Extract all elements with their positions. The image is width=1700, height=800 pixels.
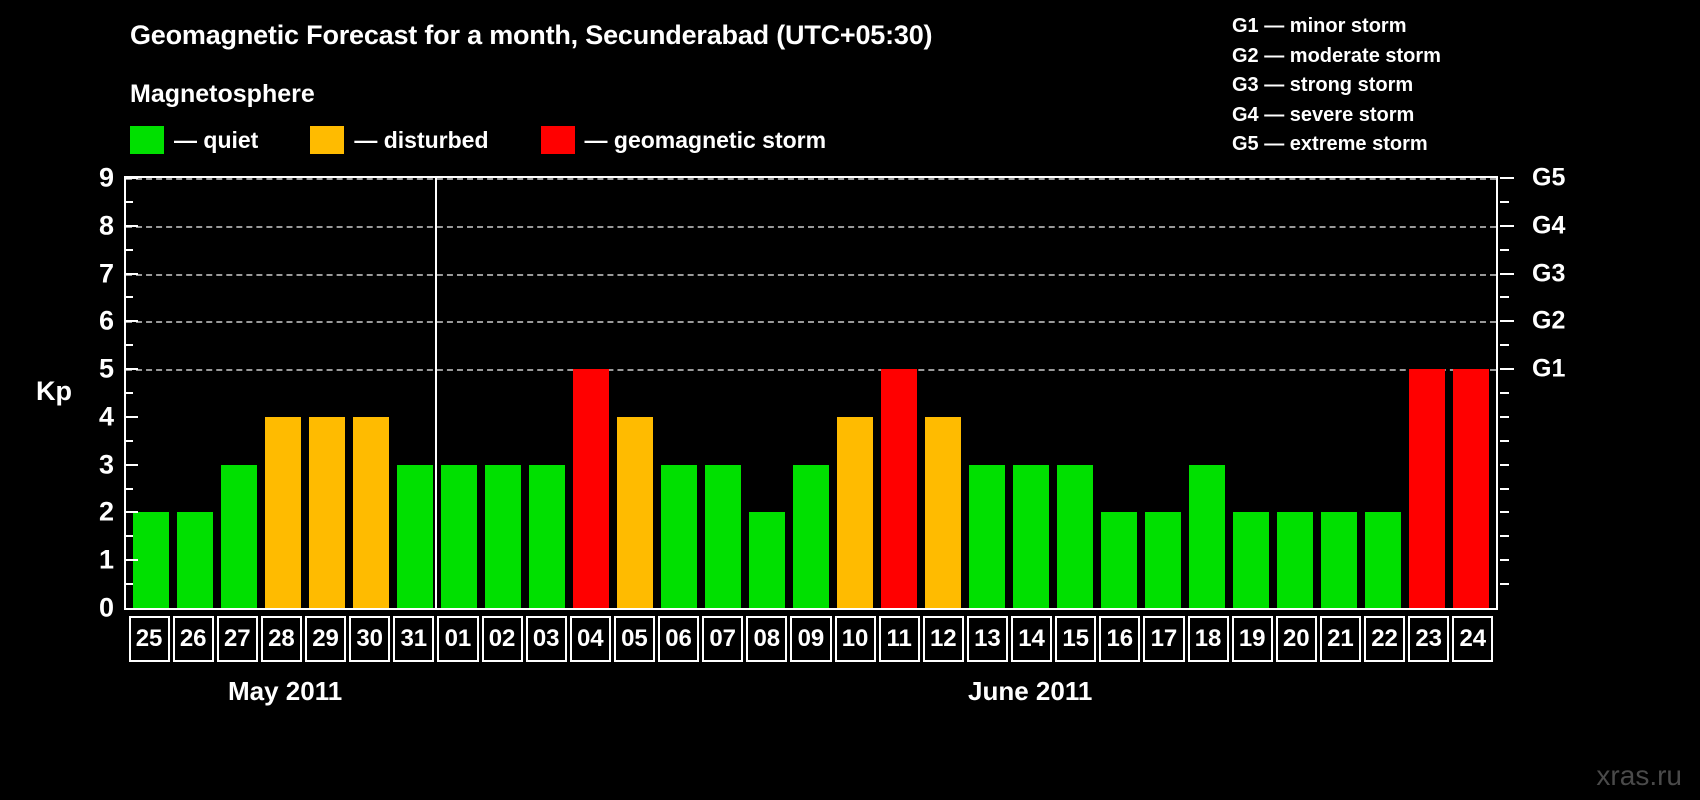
bar-slot	[1317, 178, 1361, 608]
y-tick-mark-minor	[126, 201, 133, 203]
bar-day-23[interactable]	[1409, 369, 1446, 608]
y-tick-mark-8	[126, 225, 138, 227]
date-label-27[interactable]: 27	[217, 616, 258, 662]
bar-day-12[interactable]	[925, 417, 962, 608]
bar-day-17[interactable]	[1145, 512, 1182, 608]
bar-slot	[217, 178, 261, 608]
bar-slot	[1405, 178, 1449, 608]
legend-swatch-quiet-icon	[130, 126, 164, 154]
storm-scale-row-g2: G2 — moderate storm	[1232, 42, 1441, 72]
y-tick-label-8: 8	[99, 210, 114, 241]
y-tick-label-7: 7	[99, 258, 114, 289]
magnetosphere-label: Magnetosphere	[130, 80, 315, 109]
bar-day-24[interactable]	[1453, 369, 1490, 608]
legend-label-disturbed: — disturbed	[354, 127, 488, 154]
bar-slot	[745, 178, 789, 608]
bar-slot	[393, 178, 437, 608]
y-tick-mark-2	[126, 511, 138, 513]
date-label-29[interactable]: 29	[305, 616, 346, 662]
bar-slot	[789, 178, 833, 608]
bar-slot	[1361, 178, 1405, 608]
bar-day-14[interactable]	[1013, 465, 1050, 608]
date-label-10[interactable]: 10	[835, 616, 876, 662]
bar-day-30[interactable]	[353, 417, 390, 608]
y-tick-mark-minor	[126, 249, 133, 251]
month-label-may: May 2011	[228, 676, 342, 707]
legend-label-storm: — geomagnetic storm	[585, 127, 827, 154]
g-tick-mark-minor	[1500, 583, 1509, 585]
bar-day-29[interactable]	[309, 417, 346, 608]
bar-slot	[921, 178, 965, 608]
storm-scale-row-g4: G4 — severe storm	[1232, 101, 1441, 131]
bar-slot	[877, 178, 921, 608]
y-tick-label-0: 0	[99, 593, 114, 624]
y-tick-label-4: 4	[99, 401, 114, 432]
g-tick-mark-minor	[1500, 440, 1509, 442]
date-label-24[interactable]: 24	[1452, 616, 1493, 662]
y-tick-mark-7	[126, 273, 138, 275]
legend-swatch-storm-icon	[541, 126, 575, 154]
y-tick-mark-4	[126, 416, 138, 418]
date-label-21[interactable]: 21	[1320, 616, 1361, 662]
legend-swatch-disturbed-icon	[310, 126, 344, 154]
bar-day-26[interactable]	[177, 512, 214, 608]
bar-series	[126, 178, 1496, 608]
bar-day-19[interactable]	[1233, 512, 1270, 608]
y-tick-mark-minor	[126, 535, 133, 537]
legend-entry-storm: — geomagnetic storm	[541, 126, 827, 154]
bar-day-08[interactable]	[749, 512, 786, 608]
date-label-19[interactable]: 19	[1232, 616, 1273, 662]
bar-slot	[613, 178, 657, 608]
y-tick-mark-minor	[126, 392, 133, 394]
date-label-22[interactable]: 22	[1364, 616, 1405, 662]
bar-slot	[1185, 178, 1229, 608]
date-label-30[interactable]: 30	[349, 616, 390, 662]
bar-slot	[833, 178, 877, 608]
g-tick-label-G4: G4	[1532, 211, 1565, 240]
bar-slot	[1449, 178, 1493, 608]
bar-slot	[701, 178, 745, 608]
plot-inner	[126, 178, 1496, 608]
g-tick-label-G5: G5	[1532, 164, 1565, 193]
bar-day-16[interactable]	[1101, 512, 1138, 608]
g-tick-mark-minor	[1500, 559, 1509, 561]
bar-day-20[interactable]	[1277, 512, 1314, 608]
storm-scale-row-g5: G5 — extreme storm	[1232, 130, 1441, 160]
bar-slot	[525, 178, 569, 608]
bar-day-31[interactable]	[397, 465, 434, 608]
y-tick-mark-6	[126, 320, 138, 322]
y-tick-label-9: 9	[99, 163, 114, 194]
date-label-04[interactable]: 04	[570, 616, 611, 662]
bar-day-05[interactable]	[617, 417, 654, 608]
date-label-01[interactable]: 01	[437, 616, 478, 662]
bar-slot	[261, 178, 305, 608]
date-label-08[interactable]: 08	[746, 616, 787, 662]
y-axis-title: Kp	[36, 376, 72, 407]
date-axis: 2526272829303101020304050607080910111213…	[124, 616, 1498, 662]
date-label-25[interactable]: 25	[129, 616, 170, 662]
g-tick-mark-minor	[1500, 535, 1509, 537]
g-tick-mark-minor	[1500, 416, 1509, 418]
page-title: Geomagnetic Forecast for a month, Secund…	[130, 20, 932, 51]
bar-day-06[interactable]	[661, 465, 698, 608]
g-tick-label-G3: G3	[1532, 259, 1565, 288]
g-tick-mark-G2	[1500, 320, 1514, 322]
y-tick-label-6: 6	[99, 306, 114, 337]
bar-slot	[1141, 178, 1185, 608]
legend-label-quiet: — quiet	[174, 127, 258, 154]
date-label-15[interactable]: 15	[1055, 616, 1096, 662]
watermark: xras.ru	[1596, 760, 1682, 792]
date-label-26[interactable]: 26	[173, 616, 214, 662]
bar-slot	[481, 178, 525, 608]
bar-day-18[interactable]	[1189, 465, 1226, 608]
plot-area	[124, 176, 1498, 610]
g-tick-mark-minor	[1500, 464, 1509, 466]
g-tick-label-G2: G2	[1532, 307, 1565, 336]
bar-day-03[interactable]	[529, 465, 566, 608]
bar-day-15[interactable]	[1057, 465, 1094, 608]
bar-day-22[interactable]	[1365, 512, 1402, 608]
y-tick-mark-1	[126, 559, 138, 561]
legend-entry-disturbed: — disturbed	[310, 126, 488, 154]
date-label-17[interactable]: 17	[1143, 616, 1184, 662]
bar-slot	[437, 178, 481, 608]
g-scale-axis: G1G2G3G4G5	[1500, 176, 1620, 610]
date-label-23[interactable]: 23	[1408, 616, 1449, 662]
y-tick-mark-3	[126, 464, 138, 466]
date-label-05[interactable]: 05	[614, 616, 655, 662]
date-label-16[interactable]: 16	[1099, 616, 1140, 662]
bar-slot	[1053, 178, 1097, 608]
date-label-06[interactable]: 06	[658, 616, 699, 662]
legend-entry-quiet: — quiet	[130, 126, 258, 154]
y-tick-label-2: 2	[99, 497, 114, 528]
bar-slot	[1273, 178, 1317, 608]
y-tick-mark-minor	[126, 440, 133, 442]
bar-slot	[1229, 178, 1273, 608]
y-tick-mark-minor	[126, 583, 133, 585]
bar-slot	[569, 178, 613, 608]
g-tick-mark-minor	[1500, 249, 1509, 251]
date-label-12[interactable]: 12	[923, 616, 964, 662]
bar-day-02[interactable]	[485, 465, 522, 608]
bar-day-11[interactable]	[881, 369, 918, 608]
g-tick-label-G1: G1	[1532, 355, 1565, 384]
bar-day-13[interactable]	[969, 465, 1006, 608]
date-label-11[interactable]: 11	[879, 616, 920, 662]
date-label-20[interactable]: 20	[1276, 616, 1317, 662]
g-tick-mark-G1	[1500, 368, 1514, 370]
bar-day-21[interactable]	[1321, 512, 1358, 608]
y-tick-mark-9	[126, 177, 138, 179]
bar-day-27[interactable]	[221, 465, 258, 608]
bar-day-04[interactable]	[573, 369, 610, 608]
y-tick-mark-minor	[126, 296, 133, 298]
g-tick-mark-minor	[1500, 344, 1509, 346]
month-label-june: June 2011	[968, 676, 1092, 707]
y-axis: 9876543210	[76, 176, 114, 610]
storm-scale-legend: G1 — minor stormG2 — moderate stormG3 — …	[1232, 12, 1441, 160]
bar-slot	[349, 178, 393, 608]
date-label-03[interactable]: 03	[526, 616, 567, 662]
bar-day-25[interactable]	[133, 512, 170, 608]
date-label-02[interactable]: 02	[482, 616, 523, 662]
bar-slot	[1009, 178, 1053, 608]
g-tick-mark-minor	[1500, 511, 1509, 513]
bar-day-07[interactable]	[705, 465, 742, 608]
bar-day-10[interactable]	[837, 417, 874, 608]
g-tick-mark-G4	[1500, 225, 1514, 227]
bar-day-01[interactable]	[441, 465, 478, 608]
bar-slot	[965, 178, 1009, 608]
date-label-09[interactable]: 09	[790, 616, 831, 662]
y-tick-label-1: 1	[99, 545, 114, 576]
y-tick-mark-5	[126, 368, 138, 370]
bar-slot	[1097, 178, 1141, 608]
date-label-14[interactable]: 14	[1011, 616, 1052, 662]
g-tick-mark-minor	[1500, 392, 1509, 394]
color-legend: — quiet— disturbed— geomagnetic storm	[130, 126, 826, 154]
storm-scale-row-g1: G1 — minor storm	[1232, 12, 1441, 42]
g-tick-mark-G3	[1500, 273, 1514, 275]
g-tick-mark-minor	[1500, 201, 1509, 203]
g-tick-mark-minor	[1500, 296, 1509, 298]
g-tick-mark-G5	[1500, 177, 1514, 179]
date-label-13[interactable]: 13	[967, 616, 1008, 662]
bar-slot	[657, 178, 701, 608]
y-tick-label-5: 5	[99, 354, 114, 385]
g-tick-mark-minor	[1500, 488, 1509, 490]
y-tick-mark-minor	[126, 344, 133, 346]
storm-scale-row-g3: G3 — strong storm	[1232, 71, 1441, 101]
date-label-28[interactable]: 28	[261, 616, 302, 662]
bar-slot	[305, 178, 349, 608]
y-tick-mark-minor	[126, 488, 133, 490]
bar-slot	[129, 178, 173, 608]
date-label-07[interactable]: 07	[702, 616, 743, 662]
date-label-18[interactable]: 18	[1188, 616, 1229, 662]
bar-day-09[interactable]	[793, 465, 830, 608]
date-label-31[interactable]: 31	[393, 616, 434, 662]
y-tick-label-3: 3	[99, 449, 114, 480]
bar-day-28[interactable]	[265, 417, 302, 608]
bar-slot	[173, 178, 217, 608]
